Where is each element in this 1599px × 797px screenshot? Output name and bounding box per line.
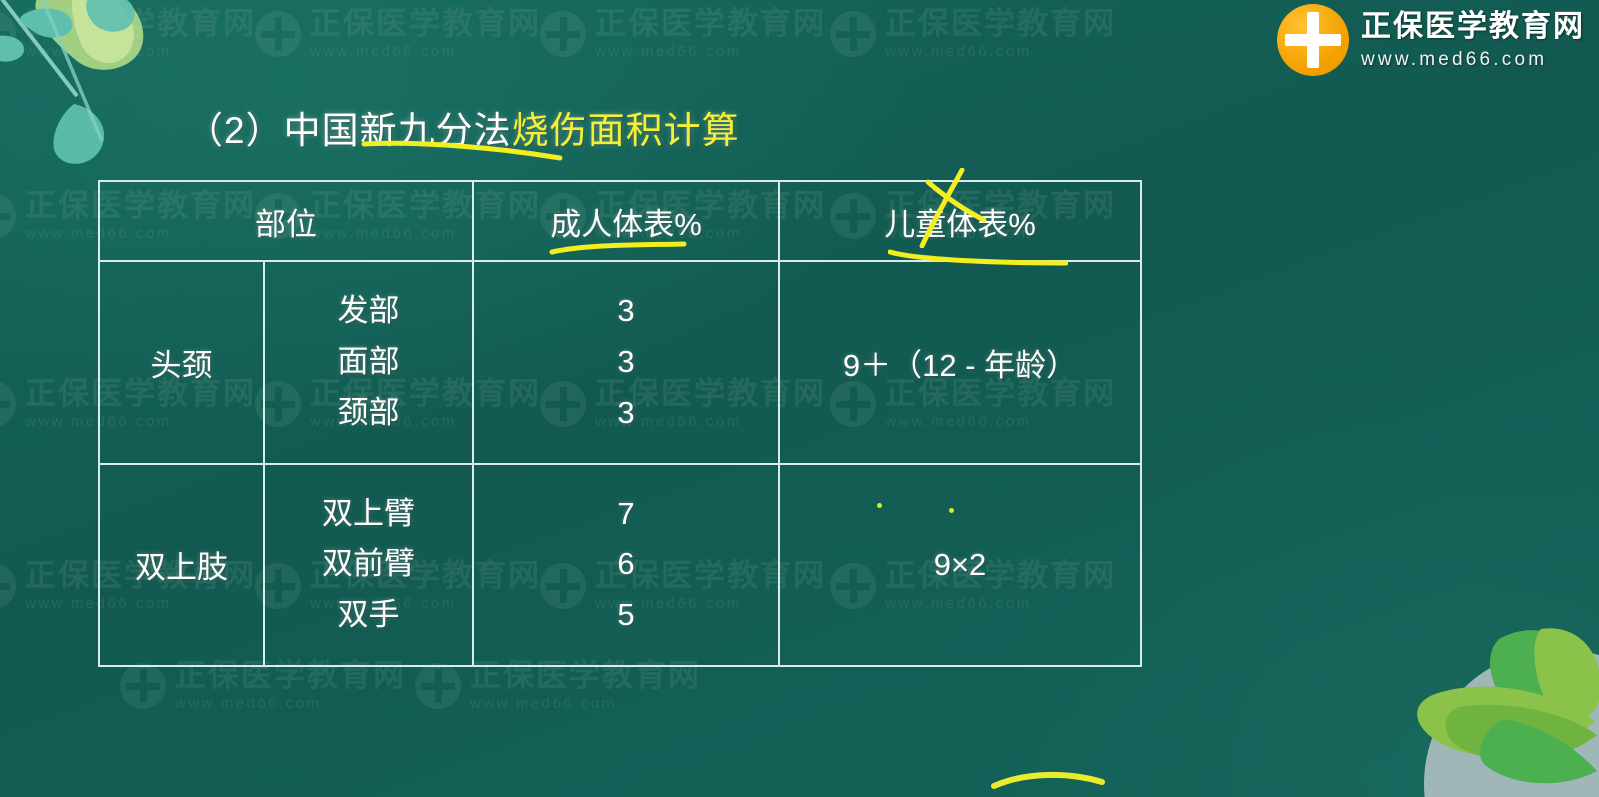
row-parts: 发部 面部 颈部 [264,261,473,464]
leaf-decoration-top-left [0,0,212,176]
leaf-decoration-bottom-right [1309,599,1599,797]
row-adult-values: 7 6 5 [473,464,779,667]
part-item: 双前臂 [265,548,472,581]
part-item: 双上臂 [265,498,472,531]
page-title: （2）中国新九分法烧伤面积计算 [186,100,740,154]
part-item: 面部 [265,346,472,379]
adult-value: 3 [474,346,778,379]
adult-value: 5 [474,599,778,632]
burn-area-table: 部位 成人体表% 儿童体表% 头颈 发部 面部 颈部 [98,180,1142,667]
title-white-part: 中国新九分法 [284,110,512,151]
annotation-dot [877,503,882,508]
brand-logo: 正保医学教育网 www.med66.com [1277,4,1585,76]
table-row: 双上肢 双上臂 双前臂 双手 7 6 5 [99,464,1141,667]
burn-area-table-wrapper: 部位 成人体表% 儿童体表% 头颈 发部 面部 颈部 [98,180,1140,667]
header-child: 儿童体表% [779,181,1141,261]
brand-url: www.med66.com [1361,50,1585,69]
row-child-value: 9＋（12 - 年龄） [779,261,1141,464]
adult-value: 3 [474,295,778,328]
brand-name: 正保医学教育网 [1361,12,1585,42]
adult-value: 7 [474,498,778,531]
row-region: 头颈 [99,261,264,464]
part-item: 发部 [265,295,472,328]
title-yellow-part: 烧伤面积计算 [512,110,740,151]
row-adult-values: 3 3 3 [473,261,779,464]
adult-value: 3 [474,397,778,430]
row-child-value: 9×2 [779,464,1141,667]
slide-canvas: 正保医学教育网 www.med66.com 正保医学教育网 www.med66.… [0,0,1599,797]
table-header-row: 部位 成人体表% 儿童体表% [99,181,1141,261]
header-part: 部位 [99,181,473,261]
part-item: 颈部 [265,397,472,430]
part-item: 双手 [265,599,472,632]
header-adult: 成人体表% [473,181,779,261]
row-parts: 双上臂 双前臂 双手 [264,464,473,667]
annotation-dot [949,508,954,513]
title-prefix: （2） [186,110,284,151]
adult-value: 6 [474,548,778,581]
row-region: 双上肢 [99,464,264,667]
cross-circle-icon [1277,4,1349,76]
table-row: 头颈 发部 面部 颈部 3 3 3 [99,261,1141,464]
